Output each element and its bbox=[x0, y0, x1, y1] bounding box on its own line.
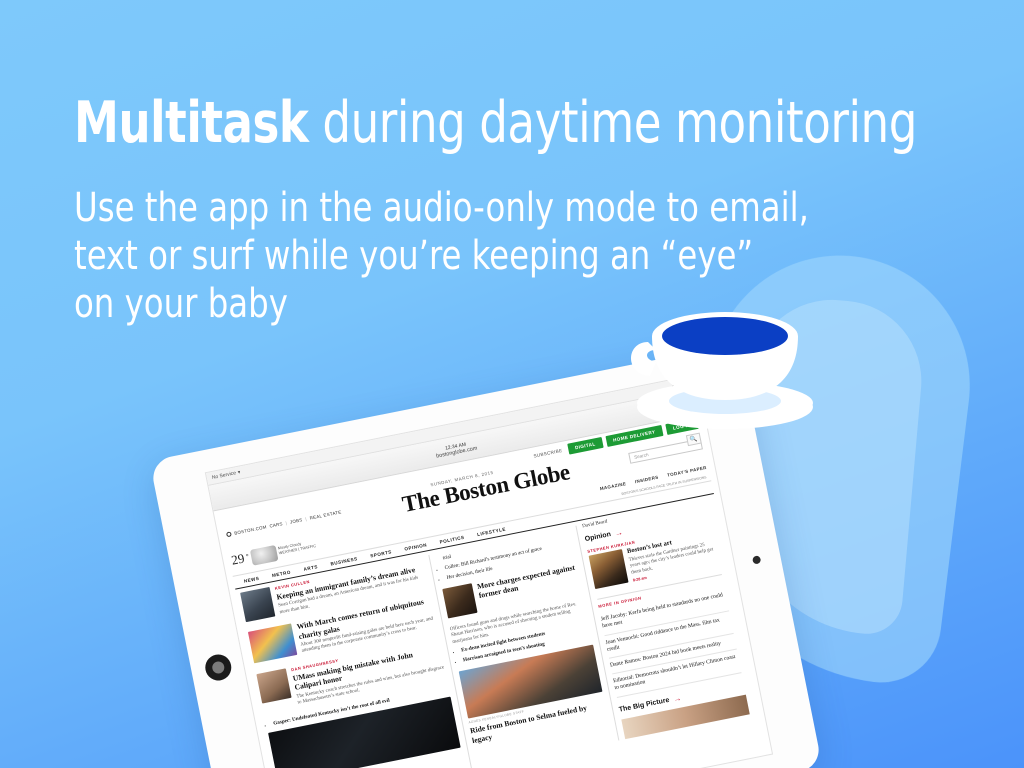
article-thumbnail bbox=[588, 549, 628, 589]
subtitle-line-1: Use the app in the audio-only mode to em… bbox=[74, 184, 911, 232]
weather-temp: 29 bbox=[230, 551, 245, 566]
divider: | bbox=[285, 520, 287, 525]
headline-bold-word: Multitask bbox=[74, 90, 308, 156]
bostoncom-brand[interactable]: BOSTON.COM bbox=[234, 524, 267, 535]
article-thumbnail bbox=[256, 668, 291, 703]
subtitle-line-2: text or surf while you’re keeping an “ey… bbox=[74, 232, 911, 280]
nav-insiders[interactable]: INSIDERS bbox=[634, 474, 658, 484]
section-title: Opinion bbox=[584, 531, 611, 543]
page-title: Multitask during daytime monitoring bbox=[74, 92, 892, 154]
nav-news[interactable]: NEWS bbox=[243, 576, 259, 584]
coffee-surface bbox=[662, 317, 788, 355]
tablet-stage: No Service ▾ 25% 12:34 AM bostonglobe.co… bbox=[186, 398, 846, 768]
article-thumbnail bbox=[240, 587, 275, 622]
divider: | bbox=[305, 516, 307, 521]
front-camera-icon bbox=[752, 555, 761, 564]
link-jobs[interactable]: JOBS bbox=[290, 517, 303, 524]
nav-metro[interactable]: METRO bbox=[272, 569, 292, 578]
cup-handle bbox=[631, 342, 656, 376]
article-thumbnail bbox=[248, 624, 297, 664]
hero-copy: Multitask during daytime monitoring Use … bbox=[74, 92, 1004, 328]
arrow-right-icon: → bbox=[672, 693, 682, 703]
headline-rest: during daytime monitoring bbox=[308, 90, 916, 156]
nav-politics[interactable]: POLITICS bbox=[439, 535, 465, 545]
coffee-cup-illustration bbox=[612, 300, 837, 435]
carrier-label: No Service bbox=[211, 470, 236, 481]
link-real-estate[interactable]: REAL ESTATE bbox=[309, 509, 342, 520]
bostoncom-logo-icon bbox=[226, 531, 232, 537]
home-button[interactable] bbox=[203, 652, 234, 683]
link-cars[interactable]: CARS bbox=[269, 521, 283, 529]
nav-sports[interactable]: SPORTS bbox=[370, 549, 392, 558]
nav-magazine[interactable]: MAGAZINE bbox=[599, 481, 626, 491]
wifi-icon: ▾ bbox=[237, 469, 241, 475]
nav-opinion[interactable]: OPINION bbox=[404, 542, 427, 551]
nav-arts[interactable]: ARTS bbox=[303, 564, 318, 572]
article-thumbnail bbox=[442, 583, 477, 618]
coffee-cup-svg bbox=[612, 300, 837, 435]
arrow-right-icon: → bbox=[614, 528, 624, 538]
